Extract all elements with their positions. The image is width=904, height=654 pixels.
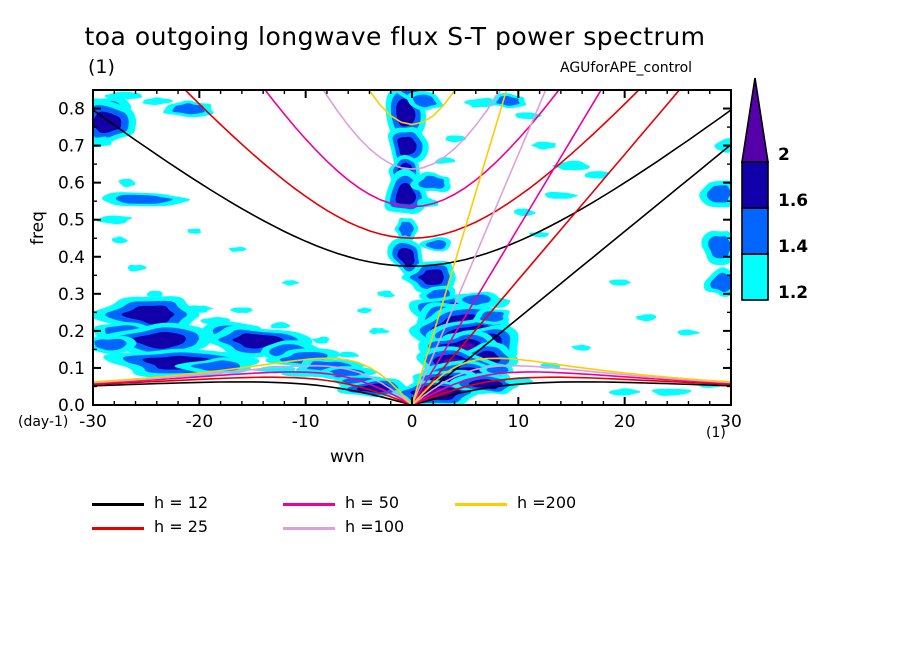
power-contour-patch — [229, 247, 247, 252]
power-contour-patch — [312, 337, 329, 344]
power-contour-patch — [147, 291, 163, 297]
power-contour-patch — [652, 389, 692, 396]
x-tick-label: 10 — [508, 412, 530, 432]
y-tick-label: 0.3 — [58, 285, 85, 305]
y-tick-label: 0.1 — [58, 359, 85, 379]
legend-label: h =200 — [517, 493, 576, 512]
power-contour-patch — [337, 352, 359, 358]
y-tick-label: 0.5 — [58, 211, 85, 231]
legend-color-swatch — [283, 527, 335, 530]
power-contour-patch — [119, 179, 136, 188]
y-tick-label: 0.7 — [58, 137, 85, 157]
power-contour-patch — [572, 345, 592, 351]
legend-color-swatch — [92, 527, 144, 530]
x-tick-label: 30 — [720, 412, 742, 432]
power-contour-patch — [636, 314, 657, 321]
power-contour-patch — [104, 92, 142, 100]
y-tick-label: 0.6 — [58, 174, 85, 194]
legend-color-swatch — [455, 503, 507, 506]
y-tick-label: 0.2 — [58, 322, 85, 342]
spectrum-plot: -30-20-1001020300.00.10.20.30.40.50.60.7… — [0, 0, 904, 654]
power-contour-patch — [531, 142, 556, 150]
power-contour-patch — [677, 329, 700, 335]
power-contour-patch — [271, 322, 291, 328]
legend-label: h = 25 — [154, 517, 208, 536]
power-contour-patch — [357, 308, 372, 314]
colorbar-band — [742, 254, 768, 300]
power-contour-patch — [230, 307, 253, 313]
spectrum-data-layer — [74, 0, 745, 406]
power-contour-patch — [112, 236, 128, 243]
power-contour-patch — [609, 279, 632, 285]
colorbar-tick-label: 1.4 — [778, 237, 808, 257]
power-contour-patch — [545, 192, 580, 199]
power-contour-patch — [282, 280, 300, 285]
x-tick-label: -10 — [292, 412, 320, 432]
power-contour-patch — [377, 291, 395, 298]
x-tick-label: -20 — [185, 412, 213, 432]
power-contour-patch — [187, 229, 201, 234]
dispersion-curve-kelvin — [412, 29, 731, 405]
legend-label: h =100 — [345, 517, 404, 536]
colorbar-band — [742, 208, 768, 254]
colorbar-band — [742, 162, 768, 208]
x-tick-label: 20 — [614, 412, 636, 432]
power-contour-patch — [369, 328, 390, 334]
power-contour-patch — [609, 388, 642, 395]
power-contour-patch — [143, 97, 174, 105]
legend-color-swatch — [92, 503, 144, 506]
power-contour-patch — [127, 265, 147, 272]
x-tick-label: 0 — [407, 412, 418, 432]
legend-color-swatch — [283, 503, 335, 506]
y-tick-label: 0.4 — [58, 248, 85, 268]
y-tick-label: 0.8 — [58, 100, 85, 120]
colorbar-tick-label: 1.2 — [778, 283, 808, 303]
colorbar-tick-label: 2 — [778, 145, 790, 165]
colorbar-arrow-top — [742, 78, 768, 162]
legend-label: h = 50 — [345, 493, 399, 512]
plot-page: toa outgoing longwave flux S-T power spe… — [0, 0, 904, 654]
colorbar-tick-label: 1.6 — [778, 191, 808, 211]
y-tick-label: 0.0 — [58, 396, 85, 416]
power-contour-patch — [97, 216, 132, 225]
legend-label: h = 12 — [154, 493, 208, 512]
